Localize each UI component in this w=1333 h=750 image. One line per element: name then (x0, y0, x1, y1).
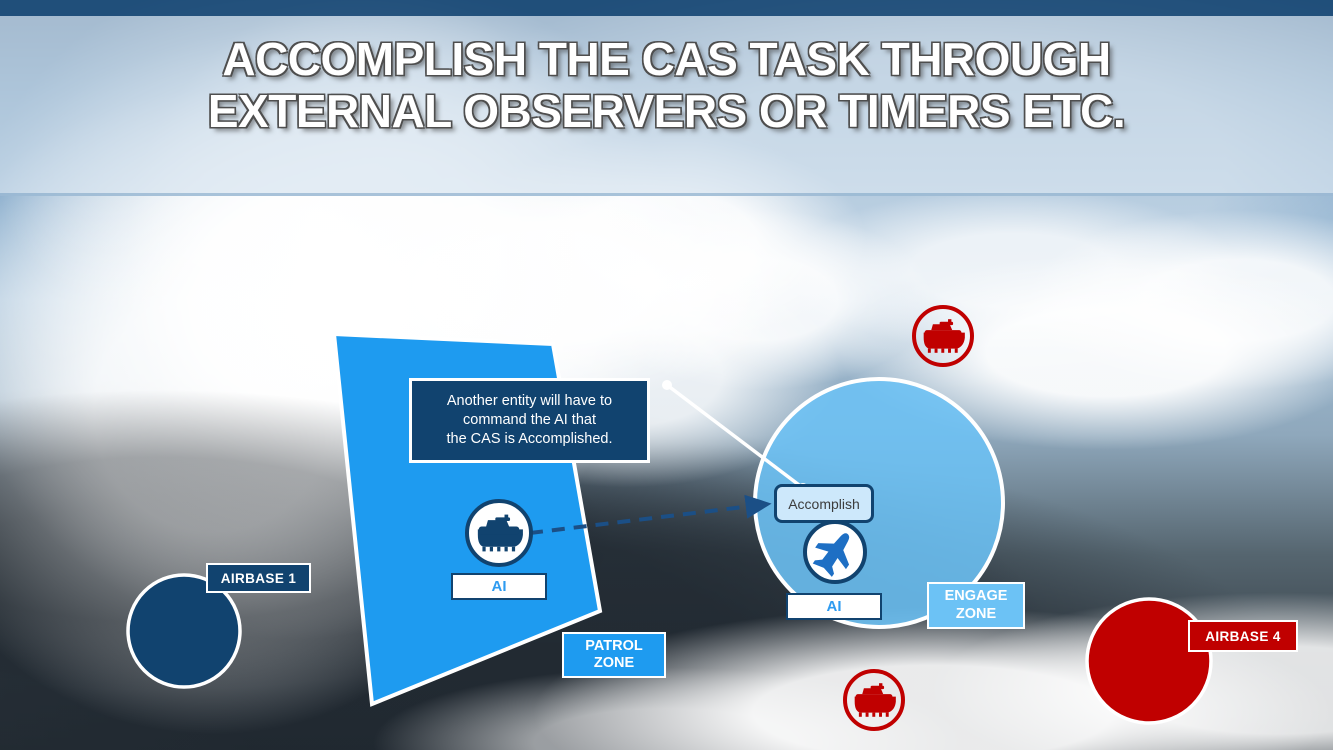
blue-air-unit-label-text: AI (827, 598, 842, 615)
callout-line-2: command the AI that (420, 411, 639, 430)
callout-leader-endpoint (662, 380, 672, 390)
blue-air-unit-icon[interactable] (805, 522, 865, 582)
callout-line-3: the CAS is Accomplished. (420, 430, 639, 449)
diagram-vector-layer (0, 0, 1333, 750)
blue-ground-unit-icon[interactable] (467, 501, 531, 565)
accomplish-task-label: Accomplish (788, 496, 860, 512)
airbase-4-label[interactable]: AIRBASE 4 (1188, 620, 1298, 652)
patrol-zone-label-line-2: ZONE (585, 655, 642, 672)
red-ground-unit-north-icon[interactable] (914, 307, 972, 365)
callout-line-1: Another entity will have to (420, 392, 639, 411)
airbase-4-shape[interactable] (1087, 599, 1211, 723)
airbase-1-label-text: AIRBASE 1 (221, 571, 297, 586)
airbase-4-label-text: AIRBASE 4 (1205, 629, 1281, 644)
red-ground-unit-south-icon[interactable] (845, 671, 903, 729)
blue-ground-unit-label-text: AI (492, 578, 507, 595)
patrol-zone-label[interactable]: PATROL ZONE (562, 632, 666, 678)
blue-air-unit-label[interactable]: AI (786, 593, 882, 620)
slide-canvas: ACCOMPLISH THE CAS TASK THROUGH EXTERNAL… (0, 0, 1333, 750)
engage-zone-label-line-1: ENGAGE (945, 588, 1008, 605)
engage-zone-label[interactable]: ENGAGE ZONE (927, 582, 1025, 629)
patrol-zone-label-line-1: PATROL (585, 638, 642, 655)
callout-textbox[interactable]: Another entity will have to command the … (409, 378, 650, 463)
blue-ground-unit-label[interactable]: AI (451, 573, 547, 600)
accomplish-task-box[interactable]: Accomplish (774, 484, 874, 523)
engage-zone-label-line-2: ZONE (945, 606, 1008, 623)
airbase-1-label[interactable]: AIRBASE 1 (206, 563, 311, 593)
